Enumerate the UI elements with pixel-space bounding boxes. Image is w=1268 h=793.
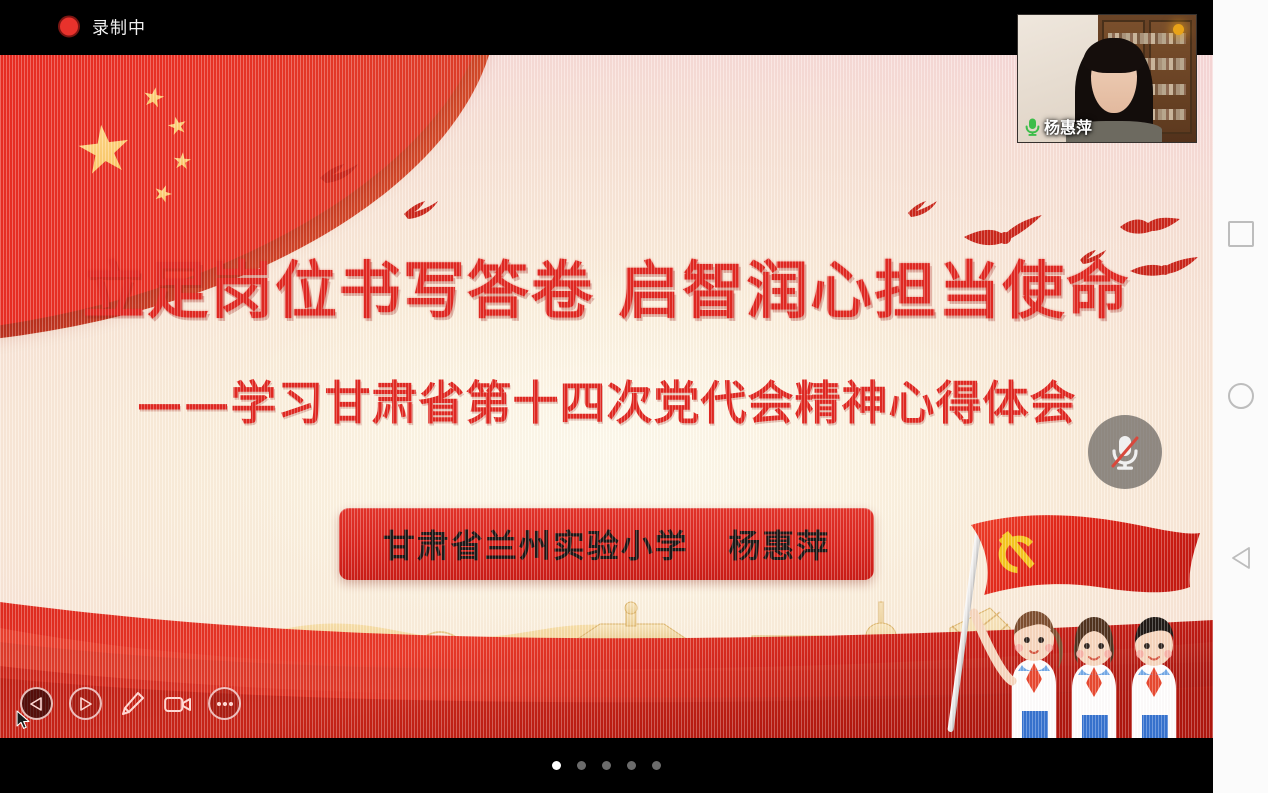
pencil-icon bbox=[120, 691, 145, 716]
toolbar-camera-button[interactable] bbox=[163, 689, 192, 718]
page-dot-1[interactable] bbox=[552, 761, 561, 770]
screen-root: 立足岗位书写答卷 启智润心担当使命 ——学习甘肃省第十四次党代会精神心得体会 甘… bbox=[0, 0, 1268, 793]
page-dot-5[interactable] bbox=[652, 761, 661, 770]
presentation-slide[interactable]: 立足岗位书写答卷 启智润心担当使命 ——学习甘肃省第十四次党代会精神心得体会 甘… bbox=[0, 55, 1213, 738]
triangle-left-icon bbox=[1230, 546, 1252, 570]
square-icon bbox=[1228, 221, 1254, 247]
flag-star-small-3 bbox=[172, 151, 192, 171]
record-dot-icon bbox=[58, 15, 80, 37]
party-flag-and-children-illustration bbox=[938, 493, 1213, 738]
video-camera-icon bbox=[164, 694, 192, 714]
triangle-left-icon bbox=[30, 697, 43, 711]
slide-toolbar[interactable] bbox=[20, 687, 241, 720]
page-dot-4[interactable] bbox=[627, 761, 636, 770]
toolbar-pen-button[interactable] bbox=[118, 689, 147, 718]
toolbar-more-button[interactable] bbox=[208, 687, 241, 720]
slide-title-subtitle: ——学习甘肃省第十四次党代会精神心得体会 bbox=[0, 380, 1213, 426]
flag-star-small-4 bbox=[152, 182, 175, 205]
ellipsis-icon bbox=[216, 701, 234, 707]
bird-icon-3 bbox=[906, 199, 942, 219]
toolbar-forward-button[interactable] bbox=[69, 687, 102, 720]
page-dot-2[interactable] bbox=[577, 761, 586, 770]
author-banner: 甘肃省兰州实验小学 杨惠萍 bbox=[339, 508, 874, 580]
android-navigation-bar bbox=[1213, 0, 1268, 793]
recording-indicator: 录制中 bbox=[58, 14, 146, 39]
participant-video-thumbnail[interactable]: 杨惠萍 bbox=[1017, 14, 1197, 143]
participant-name-label: 杨惠萍 bbox=[1024, 114, 1092, 138]
triangle-right-icon bbox=[79, 697, 92, 711]
mouse-cursor bbox=[16, 710, 32, 730]
flag-star-large bbox=[75, 122, 133, 180]
child-2 bbox=[1072, 617, 1116, 738]
flag-star-small-1 bbox=[141, 85, 166, 110]
microphone-muted-icon bbox=[1107, 432, 1143, 472]
microphone-icon bbox=[1024, 117, 1041, 136]
participant-fringe bbox=[1083, 38, 1145, 73]
recording-label: 录制中 bbox=[92, 14, 146, 39]
page-dot-3[interactable] bbox=[602, 761, 611, 770]
bird-icon-2 bbox=[402, 198, 444, 222]
child-1 bbox=[974, 611, 1063, 738]
bird-icon-6 bbox=[1118, 215, 1184, 243]
nav-back-button[interactable] bbox=[1228, 545, 1254, 571]
bird-icon-4 bbox=[962, 213, 1046, 257]
microphone-muted-button[interactable] bbox=[1088, 415, 1162, 489]
nav-home-button[interactable] bbox=[1228, 383, 1254, 409]
pagination-bar bbox=[0, 738, 1213, 793]
slide-title-main: 立足岗位书写答卷 启智润心担当使命 bbox=[0, 260, 1213, 322]
flag-star-small-2 bbox=[166, 115, 189, 138]
bird-icon-1 bbox=[318, 160, 366, 186]
video-background-lamp bbox=[1173, 24, 1184, 35]
nav-recents-button[interactable] bbox=[1228, 221, 1254, 247]
circle-icon bbox=[1228, 383, 1254, 409]
child-3 bbox=[1132, 617, 1176, 738]
participant-name-text: 杨惠萍 bbox=[1044, 114, 1092, 138]
